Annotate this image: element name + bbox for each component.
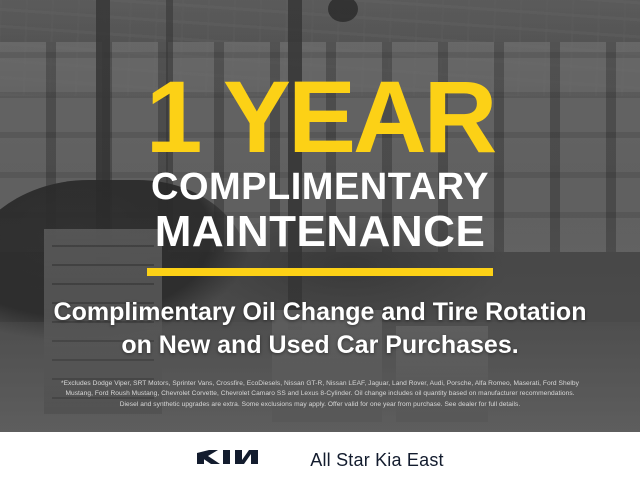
tagline-line-1: Complimentary Oil Change and Tire Rotati… — [54, 296, 587, 329]
tagline-line-2: on New and Used Car Purchases. — [54, 329, 587, 362]
disclaimer-text: *Excludes Dodge Viper, SRT Motors, Sprin… — [10, 379, 630, 410]
promo-content: 1 YEAR COMPLIMENTARY MAINTENANCE Complim… — [0, 0, 640, 432]
headline-secondary-line2: MAINTENANCE — [155, 210, 486, 254]
yellow-divider-bar — [147, 268, 493, 276]
headline-primary: 1 YEAR — [146, 76, 495, 160]
kia-logo-icon — [196, 444, 288, 477]
disclaimer-line-3: Diesel and synthetic upgrades are extra.… — [10, 400, 630, 410]
dealer-name-label: All Star Kia East — [310, 450, 443, 471]
headline-secondary-line1: COMPLIMENTARY — [151, 168, 489, 206]
promo-tagline: Complimentary Oil Change and Tire Rotati… — [54, 296, 587, 362]
promo-banner: 1 YEAR COMPLIMENTARY MAINTENANCE Complim… — [0, 0, 640, 488]
disclaimer-line-2: Mustang, Ford Roush Mustang, Chevrolet C… — [10, 389, 630, 399]
disclaimer-line-1: *Excludes Dodge Viper, SRT Motors, Sprin… — [10, 379, 630, 389]
dealer-footer-band: All Star Kia East — [0, 432, 640, 488]
